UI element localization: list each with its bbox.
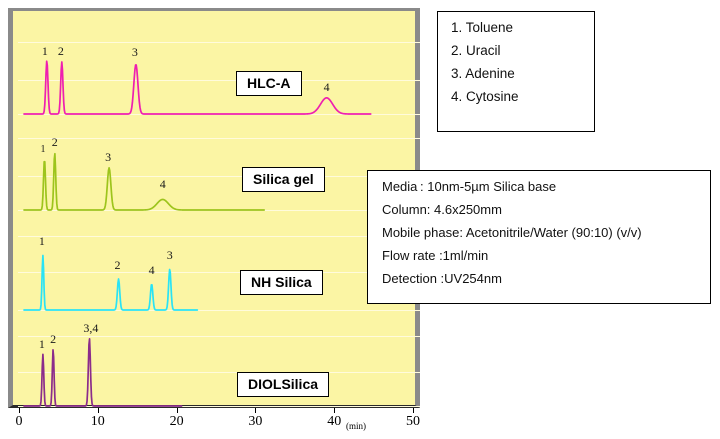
plot-frame: 123412341243123,4 HLC-ASilica gelNH Sili… (8, 8, 420, 408)
conditions-box: Media : 10nm-5µm Silica baseColumn: 4.6x… (367, 170, 711, 304)
x-tick-label: 0 (16, 414, 23, 430)
peak-label-1: 1 (39, 338, 45, 350)
trace-name-box-nh-silica: NH Silica (240, 270, 323, 295)
compound-legend: 1. Toluene2. Uracil3. Adenine4. Cytosine (437, 11, 595, 132)
legend-item-3: 3. Adenine (451, 66, 594, 81)
condition-item-3: Mobile phase: Acetonitrile/Water (90:10)… (382, 225, 710, 240)
trace-name-box-diolsilica: DIOLSilica (237, 372, 329, 397)
x-tick (98, 408, 99, 413)
legend-item-4: 4. Cytosine (451, 89, 594, 104)
x-tick-label: 20 (170, 414, 184, 430)
chromatogram-figure: 123412341243123,4 HLC-ASilica gelNH Sili… (0, 0, 720, 439)
peak-label-3-4: 3,4 (83, 322, 98, 334)
x-axis: 01020304050 (min) (8, 408, 420, 439)
plot-area: 123412341243123,4 HLC-ASilica gelNH Sili… (18, 14, 420, 408)
legend-item-1: 1. Toluene (451, 20, 594, 35)
trace-line (24, 339, 182, 406)
peak-label-3: 3 (105, 151, 111, 163)
trace-name-box-silica-gel: Silica gel (242, 167, 325, 192)
peak-label-2: 2 (52, 136, 58, 148)
trace-diolsilica (18, 14, 420, 408)
x-tick (177, 408, 178, 413)
peak-label-4: 4 (160, 178, 166, 190)
x-tick-label: 50 (406, 414, 420, 430)
peak-label-1: 1 (42, 45, 48, 57)
x-axis-unit-label: (min) (346, 421, 366, 431)
condition-item-4: Flow rate :1ml/min (382, 248, 710, 263)
peak-label-2: 2 (115, 259, 121, 271)
x-tick (413, 408, 414, 413)
peak-label-4: 4 (149, 264, 155, 276)
condition-item-5: Detection :UV254nm (382, 271, 710, 286)
peak-label-3: 3 (167, 249, 173, 261)
peak-label-3: 3 (132, 46, 138, 58)
condition-item-1: Media : 10nm-5µm Silica base (382, 179, 710, 194)
x-tick (19, 408, 20, 413)
x-tick (255, 408, 256, 413)
x-tick-label: 30 (248, 414, 262, 430)
legend-item-2: 2. Uracil (451, 43, 594, 58)
trace-name-box-hlc-a: HLC-A (236, 71, 302, 96)
peak-label-2: 2 (58, 45, 64, 57)
peak-label-2: 2 (50, 333, 56, 345)
peak-label-1: 1 (39, 235, 45, 247)
chart-panel: 123412341243123,4 HLC-ASilica gelNH Sili… (8, 8, 420, 408)
x-tick-label: 40 (327, 414, 341, 430)
peak-label-1: 1 (40, 145, 45, 155)
x-tick-label: 10 (91, 414, 105, 430)
peak-label-4: 4 (324, 81, 330, 93)
condition-item-2: Column: 4.6x250mm (382, 202, 710, 217)
x-tick (334, 408, 335, 413)
